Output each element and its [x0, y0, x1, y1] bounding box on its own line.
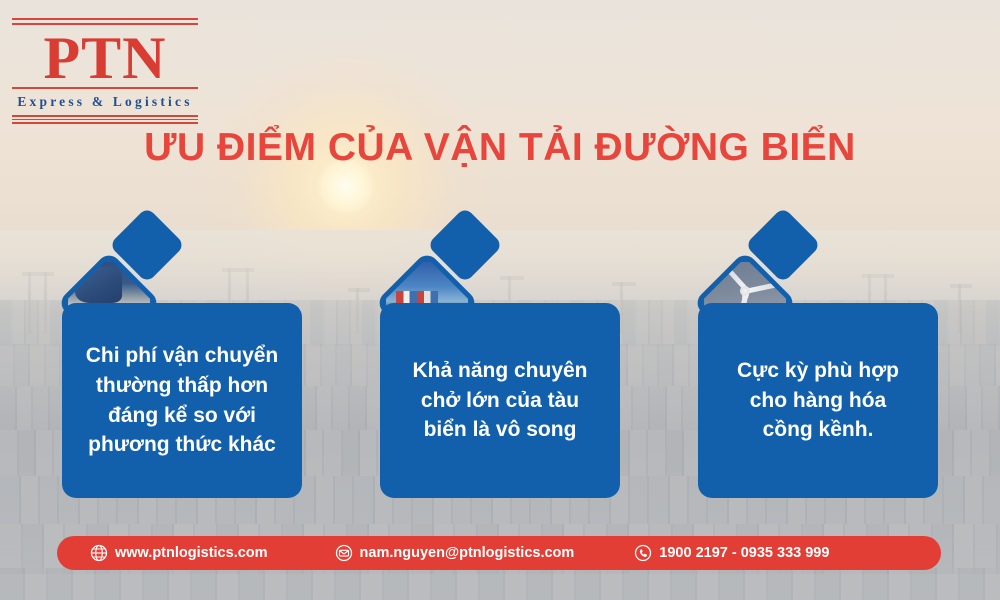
- envelope-icon: [335, 544, 353, 562]
- benefit-card-1-body: Chi phí vận chuyển thường thấp hơn đáng …: [62, 303, 302, 498]
- benefit-card-1-text: Chi phí vận chuyển thường thấp hơn đáng …: [86, 341, 279, 460]
- benefit-card-2-text: Khả năng chuyên chở lớn của tàu biển là …: [412, 356, 587, 445]
- phone-icon: [634, 544, 652, 562]
- benefit-card-2-body: Khả năng chuyên chở lớn của tàu biển là …: [380, 303, 620, 498]
- footer-email[interactable]: nam.nguyen@ptnlogistics.com: [335, 544, 575, 562]
- globe-icon: [90, 544, 108, 562]
- contact-footer-bar: www.ptnlogistics.com nam.nguyen@ptnlogis…: [57, 536, 941, 570]
- benefit-card-3-text: Cực kỳ phù hợp cho hàng hóa cồng kềnh.: [737, 356, 899, 445]
- footer-website-text: www.ptnlogistics.com: [115, 545, 268, 561]
- footer-phone[interactable]: 1900 2197 - 0935 333 999: [634, 544, 829, 562]
- benefit-card-list: Chi phí vận chuyển thường thấp hơn đáng …: [0, 0, 1000, 600]
- infographic-poster: PTN Express & Logistics ƯU ĐIỂM CỦA VẬN …: [0, 0, 1000, 600]
- footer-phone-text: 1900 2197 - 0935 333 999: [659, 545, 829, 561]
- benefit-card-3-body: Cực kỳ phù hợp cho hàng hóa cồng kềnh.: [698, 303, 938, 498]
- footer-email-text: nam.nguyen@ptnlogistics.com: [360, 545, 575, 561]
- footer-website[interactable]: www.ptnlogistics.com: [90, 544, 268, 562]
